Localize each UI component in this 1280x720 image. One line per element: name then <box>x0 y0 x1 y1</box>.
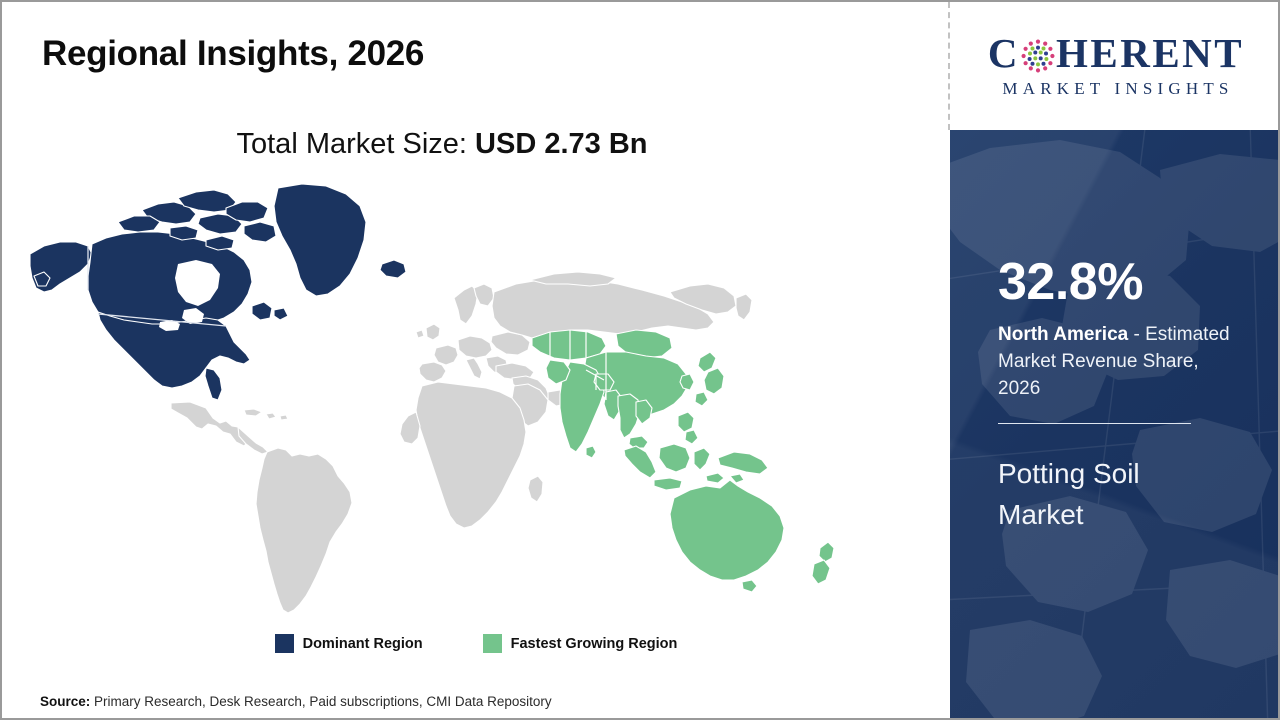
brand-logo-wordmark: C <box>966 33 1266 74</box>
brand-logo: C <box>966 33 1266 99</box>
source-label: Source: <box>40 694 90 709</box>
brand-logo-tagline: MARKET INSIGHTS <box>966 79 1266 99</box>
stat-caption: North America - Estimated Market Revenue… <box>998 322 1246 403</box>
map-region-asia-pacific <box>532 330 834 592</box>
stats-panel: 32.8% North America - Estimated Market R… <box>950 130 1280 720</box>
world-map-svg <box>30 180 866 620</box>
left-content-panel: Regional Insights, 2026 Total Market Siz… <box>2 2 950 720</box>
page-title: Regional Insights, 2026 <box>42 34 424 74</box>
source-text: Primary Research, Desk Research, Paid su… <box>90 694 551 709</box>
stats-content: 32.8% North America - Estimated Market R… <box>998 130 1260 536</box>
world-map <box>30 180 866 620</box>
legend-swatch-dominant <box>275 634 294 653</box>
map-region-north-america <box>30 184 406 400</box>
map-region-rest-of-world <box>171 272 752 613</box>
source-footer: Source: Primary Research, Desk Research,… <box>40 694 552 709</box>
infographic-page: Regional Insights, 2026 Total Market Siz… <box>0 0 1280 720</box>
map-legend: Dominant Region Fastest Growing Region <box>2 634 950 653</box>
total-market-size-value: USD 2.73 Bn <box>475 128 647 160</box>
total-market-size: Total Market Size: USD 2.73 Bn <box>2 128 882 161</box>
legend-label-dominant: Dominant Region <box>303 636 423 652</box>
brand-logo-container: C <box>950 2 1280 130</box>
stat-divider-rule <box>998 423 1191 425</box>
legend-item-fastest-growing: Fastest Growing Region <box>483 634 678 653</box>
right-side-panel: C <box>950 2 1280 720</box>
brand-logo-letter-c: C <box>988 33 1020 74</box>
dotted-globe-icon <box>1021 39 1055 73</box>
legend-swatch-fastest-growing <box>483 634 502 653</box>
stat-percentage: 32.8% <box>998 256 1260 308</box>
stat-region-name: North America <box>998 324 1128 345</box>
brand-logo-letters-herent: HERENT <box>1056 33 1244 74</box>
market-name: Potting Soil Market <box>998 454 1228 535</box>
legend-item-dominant: Dominant Region <box>275 634 423 653</box>
total-market-size-label: Total Market Size: <box>237 128 476 160</box>
legend-label-fastest-growing: Fastest Growing Region <box>511 636 678 652</box>
